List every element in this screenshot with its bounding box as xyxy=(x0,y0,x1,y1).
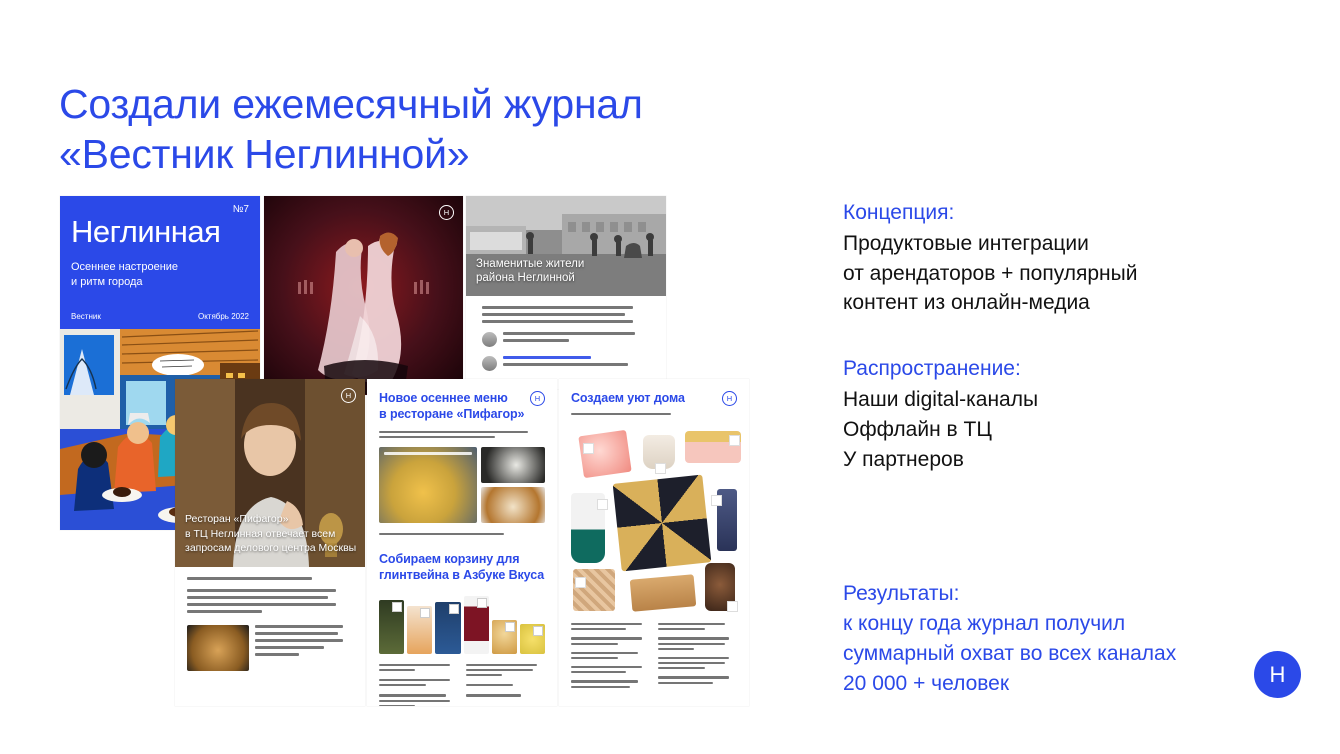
home-list-column-left xyxy=(571,623,650,691)
page-title-line-2: «Вестник Неглинной» xyxy=(59,129,779,179)
distribution-line-2: Оффлайн в ТЦ xyxy=(843,415,1243,445)
list-item xyxy=(571,628,626,630)
brand-logo-icon: Н xyxy=(722,391,737,406)
results-heading: Результаты: xyxy=(843,579,1243,609)
list-item xyxy=(658,657,729,659)
list-item xyxy=(658,648,694,650)
list-item xyxy=(658,676,729,678)
list-item xyxy=(466,674,502,676)
list-item xyxy=(658,623,725,625)
distribution-line-3: У партнеров xyxy=(843,445,1243,475)
cover-masthead-block: №7 Неглинная Осеннее настроение и ритм г… xyxy=(60,196,260,329)
resident-row xyxy=(482,332,650,347)
distribution-block: Распространение: Наши digital-каналы Офф… xyxy=(843,354,1243,474)
product-number-tag xyxy=(575,577,586,588)
concept-line-1: Продуктовые интеграции xyxy=(843,229,1243,259)
home-header-row: Создаем уют дома Н xyxy=(559,379,749,407)
body-text-line xyxy=(187,596,328,599)
autumn-menu-panel: Новое осеннее меню в ресторане «Пифагор»… xyxy=(367,379,557,706)
distribution-heading: Распространение: xyxy=(843,354,1243,384)
basket-product xyxy=(573,569,615,611)
body-text-line xyxy=(187,603,336,606)
distribution-line-1: Наши digital-каналы xyxy=(843,385,1243,415)
dish-photo-small xyxy=(481,487,545,523)
list-item xyxy=(658,662,725,664)
cover-issue-number: №7 xyxy=(233,204,249,215)
list-item xyxy=(571,671,626,673)
body-text-line xyxy=(255,646,324,649)
resident-text xyxy=(503,332,650,346)
product-number-tag xyxy=(477,598,487,608)
results-line-3: 20 000 + человек xyxy=(843,669,1243,699)
page-title-line-1: Создали ежемесячный журнал xyxy=(59,79,779,129)
body-text-line xyxy=(482,306,633,309)
photo-caption-bar xyxy=(384,452,472,455)
rug-product xyxy=(613,474,712,571)
results-body: к концу года журнал получил суммарный ох… xyxy=(843,609,1243,698)
list-item xyxy=(658,682,713,684)
concept-block: Концепция: Продуктовые интеграции от аре… xyxy=(843,198,1243,318)
menu-food-gallery xyxy=(367,447,557,523)
menu-heading-line-2: в ресторане «Пифагор» xyxy=(379,407,524,423)
historic-street-photo: Знаменитые жители района Неглинной xyxy=(466,196,666,296)
list-item xyxy=(658,637,729,639)
list-item xyxy=(571,623,642,625)
body-text-line xyxy=(379,431,528,433)
list-item xyxy=(379,669,415,671)
famous-heading-line-2: района Неглинной xyxy=(476,271,584,286)
avatar xyxy=(482,332,497,347)
list-item xyxy=(571,637,642,639)
restaurant-heading-line-1: Ресторан «Пифагор» xyxy=(185,512,357,526)
mat-product xyxy=(630,574,697,611)
product-number-tag xyxy=(655,463,666,474)
body-text-line xyxy=(379,436,495,438)
brand-logo-icon: Н xyxy=(1270,664,1286,686)
basket-item-list xyxy=(367,664,557,706)
restaurant-body xyxy=(175,567,365,681)
list-item xyxy=(571,666,642,668)
restaurant-heading-line-3: запросам делового центра Москвы xyxy=(185,541,357,555)
list-item xyxy=(571,680,638,682)
results-line-2: суммарный охват во всех каналах xyxy=(843,639,1243,669)
product-tile xyxy=(492,620,517,654)
resident-text xyxy=(503,356,650,370)
product-tile xyxy=(435,602,460,654)
list-item xyxy=(379,664,450,666)
brand-badge: Н xyxy=(1254,651,1301,698)
dish-photo xyxy=(187,625,249,671)
famous-residents-heading: Знаменитые жители района Неглинной xyxy=(476,257,584,286)
product-number-tag xyxy=(583,443,594,454)
product-number-tag xyxy=(533,626,543,636)
list-item xyxy=(571,686,630,688)
basket-list-column-left xyxy=(379,664,458,706)
product-number-tag xyxy=(392,602,402,612)
body-text-line xyxy=(187,589,336,592)
results-line-1: к концу года журнал получил xyxy=(843,609,1243,639)
body-text-line xyxy=(571,413,671,415)
list-item xyxy=(379,700,450,702)
list-item xyxy=(658,667,705,669)
home-intro-text xyxy=(559,407,749,415)
ballet-performance-photo xyxy=(264,196,463,395)
famous-residents-panel: Знаменитые жители района Неглинной xyxy=(466,196,666,389)
concept-line-2: от арендаторов + популярный xyxy=(843,259,1243,289)
home-heading-line-1: Создаем уют дома xyxy=(571,391,685,407)
body-text-line xyxy=(187,577,312,580)
concept-line-3: контент из онлайн-медиа xyxy=(843,288,1243,318)
dish-photo-column xyxy=(481,447,545,523)
product-tile xyxy=(407,606,432,654)
list-item xyxy=(466,684,513,686)
brand-logo-icon: Н xyxy=(530,391,545,406)
dish-photo-small xyxy=(481,447,545,483)
cover-subtitle: Осеннее настроение и ритм города xyxy=(71,260,178,290)
avatar xyxy=(482,356,497,371)
product-number-tag xyxy=(420,608,430,618)
restaurant-heading-line-2: в ТЦ Неглинная отвечает всем xyxy=(185,527,357,541)
product-number-tag xyxy=(449,604,459,614)
list-item xyxy=(571,643,618,645)
restaurant-dish-row xyxy=(187,625,353,671)
list-item xyxy=(571,652,638,654)
basket-list-column-right xyxy=(466,664,545,706)
list-item xyxy=(658,643,725,645)
concept-body: Продуктовые интеграции от арендаторов + … xyxy=(843,229,1243,318)
body-text-line xyxy=(255,639,343,642)
body-text-line xyxy=(255,632,338,635)
right-text-column: Концепция: Продуктовые интеграции от аре… xyxy=(843,198,1243,699)
basket-product-grid xyxy=(367,592,557,654)
restaurant-article-panel: Ресторан «Пифагор» в ТЦ Неглинная отвеча… xyxy=(175,379,365,706)
restaurant-logo-badge: Н xyxy=(341,388,356,403)
menu-heading-line-1: Новое осеннее меню xyxy=(379,391,524,407)
home-product-collage xyxy=(559,421,749,617)
resident-row xyxy=(482,356,650,371)
product-number-tag xyxy=(711,495,722,506)
product-number-tag xyxy=(505,622,515,632)
menu-header-row: Новое осеннее меню в ресторане «Пифагор»… xyxy=(367,379,557,423)
list-item xyxy=(466,694,521,696)
basket-heading: Собираем корзину для глинтвейна в Азбуке… xyxy=(379,552,545,584)
theatre-photo-panel: Н xyxy=(264,196,463,395)
body-text-line xyxy=(503,339,569,342)
menu-heading: Новое осеннее меню в ресторане «Пифагор» xyxy=(379,391,524,423)
list-item xyxy=(379,705,415,706)
basket-heading-line-1: Собираем корзину для xyxy=(379,552,545,568)
list-item xyxy=(466,664,537,666)
product-number-tag xyxy=(729,435,740,446)
product-tile xyxy=(520,624,545,654)
product-tile xyxy=(464,596,489,654)
restaurant-portrait-photo: Ресторан «Пифагор» в ТЦ Неглинная отвеча… xyxy=(175,379,365,567)
list-item xyxy=(466,669,533,671)
theatre-logo-badge: Н xyxy=(439,205,454,220)
home-comfort-panel: Создаем уют дома Н xyxy=(559,379,749,706)
basket-header: Собираем корзину для глинтвейна в Азбуке… xyxy=(367,538,557,584)
body-text-line xyxy=(503,332,635,335)
body-text-line xyxy=(482,313,625,316)
cover-subtitle-line-2: и ритм города xyxy=(71,275,178,290)
list-item xyxy=(379,684,426,686)
magazine-collage: №7 Неглинная Осеннее настроение и ритм г… xyxy=(60,196,740,706)
product-number-tag xyxy=(727,601,738,612)
pillow-product xyxy=(578,430,631,478)
body-text-line xyxy=(255,653,299,656)
restaurant-heading: Ресторан «Пифагор» в ТЦ Неглинная отвеча… xyxy=(185,512,357,555)
home-heading: Создаем уют дома xyxy=(571,391,685,407)
cover-footer: Вестник Октябрь 2022 xyxy=(71,312,249,321)
body-text-line xyxy=(187,610,262,613)
home-list-column-right xyxy=(658,623,737,691)
distribution-body: Наши digital-каналы Оффлайн в ТЦ У партн… xyxy=(843,385,1243,474)
slide-root: Создали ежемесячный журнал «Вестник Негл… xyxy=(0,0,1340,754)
concept-heading: Концепция: xyxy=(843,198,1243,228)
list-item xyxy=(571,657,618,659)
body-text-line xyxy=(503,363,628,366)
cover-subtitle-line-1: Осеннее настроение xyxy=(71,260,178,275)
famous-residents-body xyxy=(466,296,666,371)
dish-caption xyxy=(255,625,353,660)
cover-masthead: Неглинная xyxy=(71,216,220,247)
product-number-tag xyxy=(597,499,608,510)
basket-heading-line-2: глинтвейна в Азбуке Вкуса xyxy=(379,568,545,584)
list-item xyxy=(379,679,450,681)
famous-heading-line-1: Знаменитые жители xyxy=(476,257,584,272)
contact-phone-link[interactable] xyxy=(379,533,504,535)
menu-intro-text xyxy=(367,423,557,438)
cover-footer-left: Вестник xyxy=(71,312,101,321)
cover-footer-right: Октябрь 2022 xyxy=(198,312,249,321)
results-block: Результаты: к концу года журнал получил … xyxy=(843,579,1243,699)
list-item xyxy=(379,694,446,696)
page-title: Создали ежемесячный журнал «Вестник Негл… xyxy=(59,79,779,179)
brand-logo-icon: Н xyxy=(439,205,454,220)
product-tile xyxy=(379,600,404,654)
dish-photo-large xyxy=(379,447,477,523)
home-item-list xyxy=(559,623,749,691)
body-text-line xyxy=(255,625,343,628)
menu-contact-line xyxy=(367,533,557,535)
brand-logo-icon: Н xyxy=(341,388,356,403)
list-item xyxy=(658,628,705,630)
resident-name-link[interactable] xyxy=(503,356,591,359)
body-text-line xyxy=(482,320,633,323)
